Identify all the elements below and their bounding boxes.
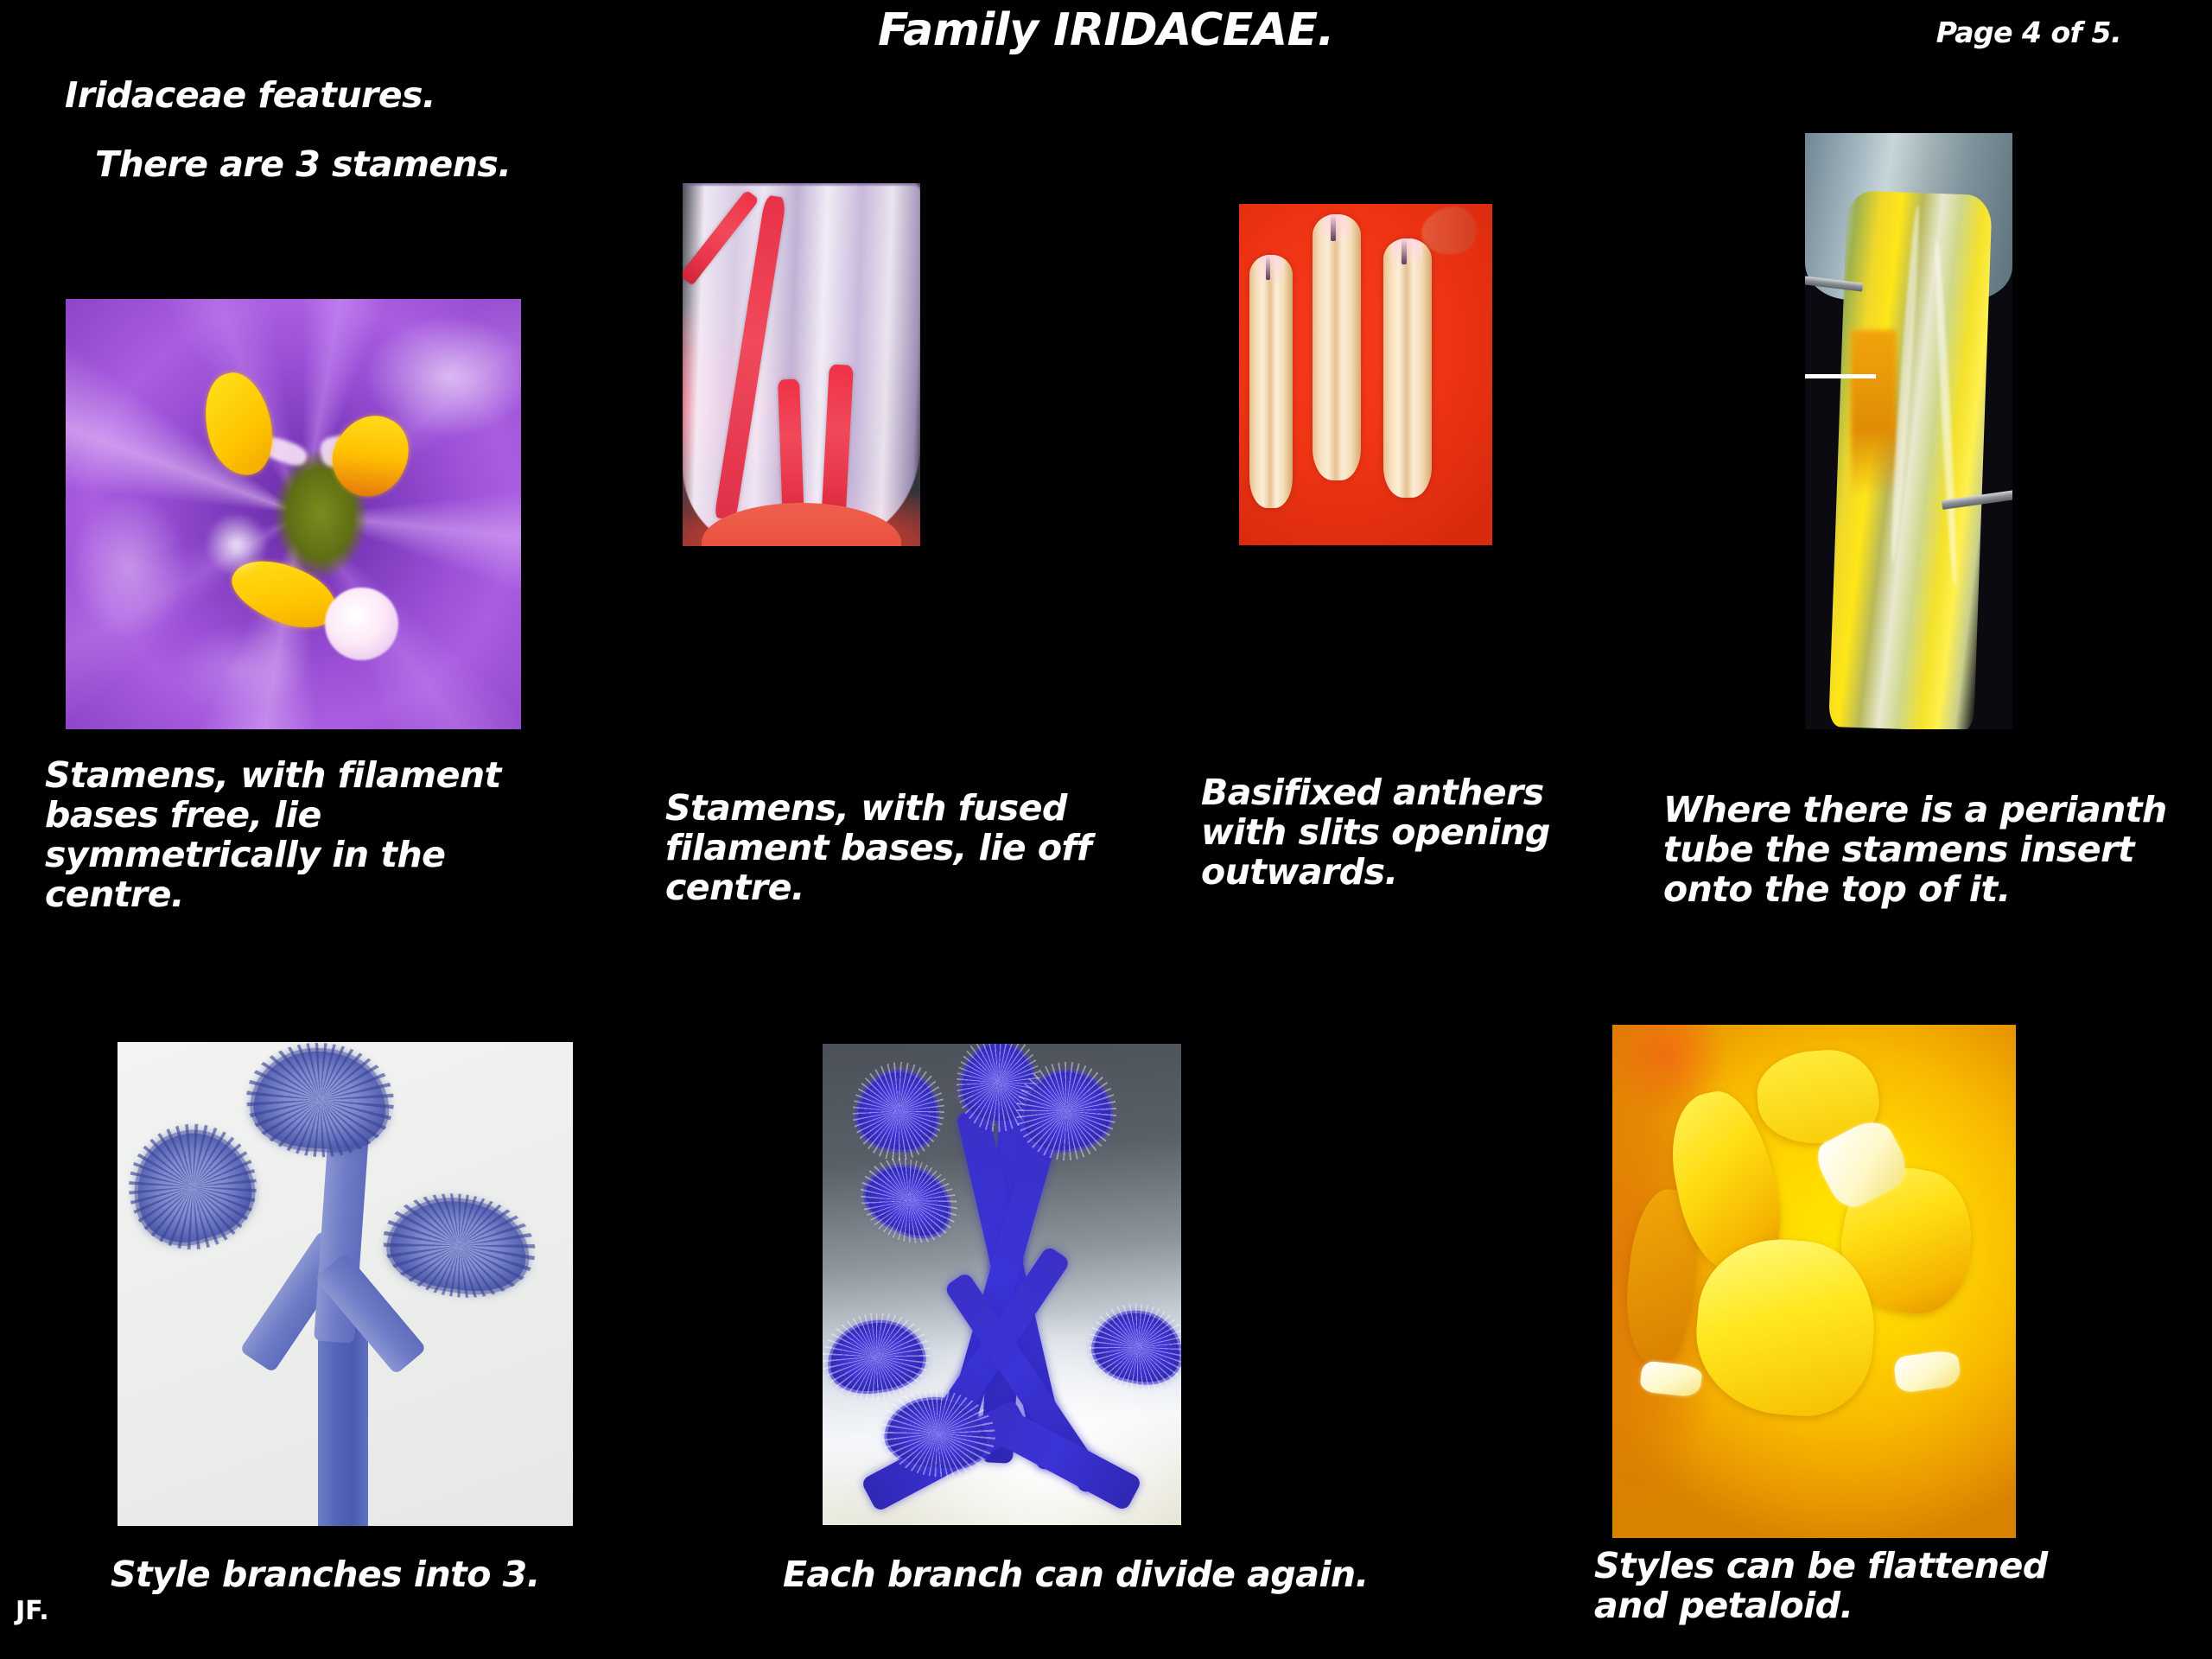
- pointer-line-marker: [1805, 374, 1876, 378]
- caption-trifid-style: Style branches into 3.: [111, 1555, 612, 1595]
- intro-subheading: There are 3 stamens.: [95, 145, 511, 185]
- figure-perianth-tube-insertion: [1805, 133, 2012, 729]
- caption-fused-filament-bases: Stamens, with fused filament bases, lie …: [665, 789, 1123, 908]
- green-ovary: [66, 299, 521, 729]
- basifixed-anther: [1383, 238, 1432, 498]
- stigma-tip: [1017, 1065, 1116, 1156]
- stigma-tip: [251, 1047, 389, 1153]
- caption-perianth-tube-insertion: Where there is a perianth tube the stame…: [1663, 791, 2212, 910]
- figure-style-branches-divided: [823, 1044, 1181, 1525]
- basifixed-anther: [1313, 214, 1361, 480]
- basifixed-anther: [1249, 255, 1293, 507]
- white-stigma: [325, 588, 397, 661]
- author-credit: JF.: [16, 1597, 49, 1626]
- figure-fused-filament-bases: [683, 183, 920, 546]
- pollen-dust: [202, 514, 270, 575]
- intro-heading: Iridaceae features.: [65, 76, 435, 116]
- figure-purple-flower-free-filaments: [66, 299, 521, 729]
- stigma-tip: [825, 1317, 927, 1396]
- page-title: Family IRIDACEAE.: [0, 5, 2212, 55]
- caption-petaloid-flattened-styles: Styles can be flattened and petaloid.: [1594, 1547, 2113, 1626]
- figure-petaloid-flattened-styles: [1612, 1025, 2016, 1538]
- stigma-tip: [884, 1395, 991, 1472]
- nectar-zone: [1851, 330, 1897, 497]
- figure-basifixed-anthers: [1239, 204, 1492, 545]
- stigma-tip: [1089, 1305, 1181, 1389]
- stigma-tip: [852, 1066, 943, 1156]
- figure-trifid-style: [118, 1042, 573, 1526]
- caption-basifixed-anthers: Basifixed anthers with slits opening out…: [1201, 773, 1607, 893]
- page-number: Page 4 of 5.: [1936, 17, 2121, 49]
- caption-style-branches-divided: Each branch can divide again.: [783, 1555, 1474, 1595]
- caption-purple-flower-free-filaments: Stamens, with filament bases free, lie s…: [45, 756, 581, 915]
